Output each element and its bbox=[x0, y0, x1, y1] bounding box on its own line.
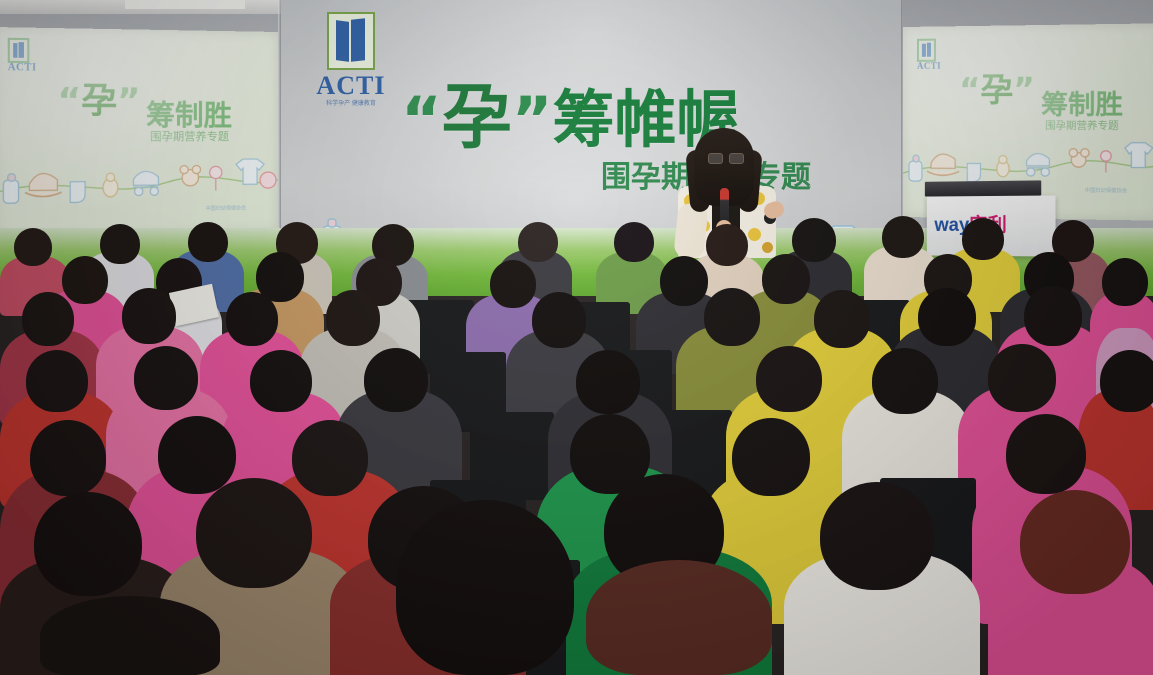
eyeglasses-icon bbox=[708, 153, 742, 162]
left-projection-screen: ACTI “孕” 筹制胜 围孕期营养专题 中国妇幼保健协会 bbox=[0, 27, 278, 237]
headline-key-char: 孕 bbox=[442, 76, 512, 158]
open-book-icon bbox=[327, 12, 375, 70]
ceiling-light bbox=[125, 0, 245, 9]
acti-logo: ACTI 科学孕产 健康教育 bbox=[311, 12, 391, 107]
screen-glare bbox=[0, 27, 278, 237]
quote-open: “ bbox=[401, 83, 442, 156]
acti-wordmark: ACTI bbox=[311, 73, 391, 99]
seminar-photo: ACTI 科学孕产 健康教育 “孕”筹帷幄 围孕期营养专题 ACTI bbox=[0, 0, 1153, 675]
acti-subtext: 科学孕产 健康教育 bbox=[311, 101, 391, 107]
quote-close: ” bbox=[512, 83, 553, 156]
lectern-monitor bbox=[925, 180, 1041, 196]
